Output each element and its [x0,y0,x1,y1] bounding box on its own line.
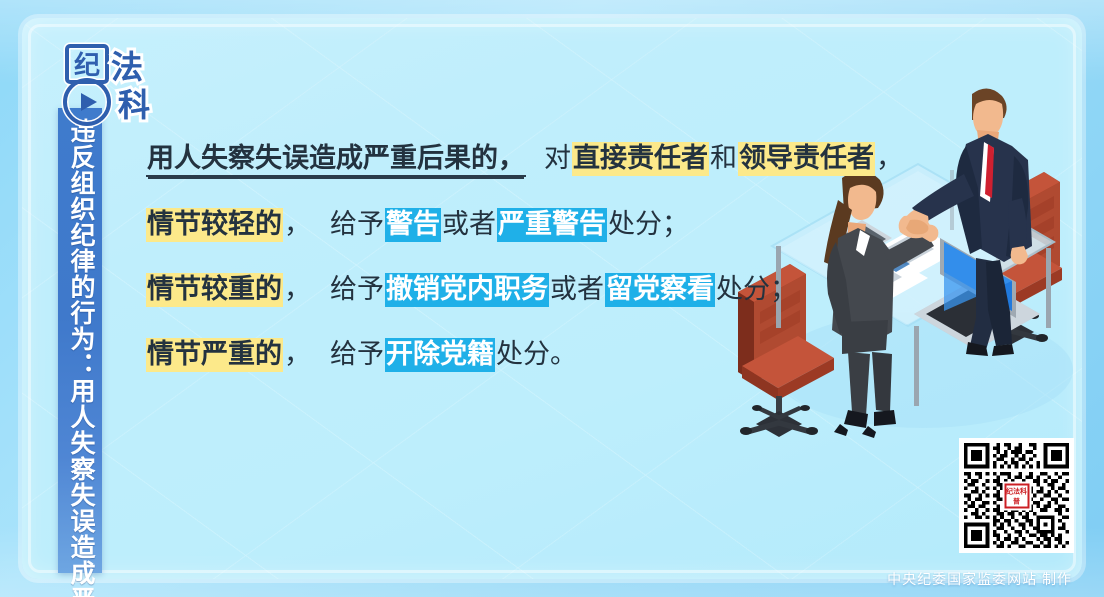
line1-seg-underlined: 用人失察失误造成严重后果的， [146,142,526,177]
line4-seg-give: 给予 [329,338,385,372]
line4-seg-comma: ， [283,338,312,372]
line1-seg-plain-he: 和 [709,142,738,176]
qr-center-logo-text: 纪法科普 [1004,483,1029,508]
line2-seg-or: 或者 [441,208,497,242]
svg-text:纪: 纪 [74,50,100,80]
line3-seg-comma: ， [283,273,312,307]
svg-text:科: 科 [118,87,150,123]
line2-seg-serious-warning: 严重警告 [497,208,607,242]
line3-seg-moderate: 情节较重的 [146,273,283,307]
line3-seg-remove-post: 撤销党内职务 [385,273,549,307]
line1-seg-plain-dui: 对 [543,142,572,176]
logo-jifa-kepu: 纪 法 法 科 科 [54,36,160,136]
credit-text: 中央纪委国家监委网站 制作 [887,569,1072,589]
text-line-4: 情节严重的，给予开除党籍处分。 [146,338,846,372]
line3-seg-punishment: 处分； [715,273,798,307]
text-line-3: 情节较重的，给予撤销党内职务或者留党察看处分； [146,273,846,307]
line2-seg-warning: 警告 [385,208,441,242]
line4-seg-punishment: 处分。 [495,338,578,372]
qr-modules: 纪法科普 [964,443,1069,548]
line1-seg-comma: ， [875,142,904,176]
line2-seg-give: 给予 [329,208,385,242]
line1-seg-direct-responsible: 直接责任者 [572,142,709,176]
line3-seg-or: 或者 [549,273,605,307]
line2-seg-comma: ， [283,208,312,242]
text-line-2: 情节较轻的，给予警告或者严重警告处分； [146,208,846,242]
line1-seg-leadership-responsible: 领导责任者 [738,142,875,176]
text-line-1: 用人失察失误造成严重后果的，对直接责任者和领导责任者， [146,142,846,177]
line3-seg-give: 给予 [329,273,385,307]
line3-seg-probation: 留党察看 [605,273,715,307]
line2-seg-minor: 情节较轻的 [146,208,283,242]
vertical-title-text: 违反组织纪律的行为：用人失察失误造成严重后果 [66,118,94,597]
line2-seg-punishment: 处分； [607,208,690,242]
line4-seg-severe: 情节严重的 [146,338,283,372]
qr-code[interactable]: 纪法科普 [959,438,1074,553]
logo-icon: 纪 法 法 科 科 [54,36,160,136]
poster-canvas: 纪 法 法 科 科 违反组织纪律的行为：用人失察失误造成严重后果 [0,0,1104,597]
main-text-block: 用人失察失误造成严重后果的，对直接责任者和领导责任者， 情节较轻的，给予警告或者… [146,142,846,372]
svg-text:法: 法 [111,49,143,85]
vertical-title-banner: 违反组织纪律的行为：用人失察失误造成严重后果 [58,108,102,573]
line4-seg-expulsion: 开除党籍 [385,338,495,372]
qr-center-logo: 纪法科普 [1002,481,1031,510]
